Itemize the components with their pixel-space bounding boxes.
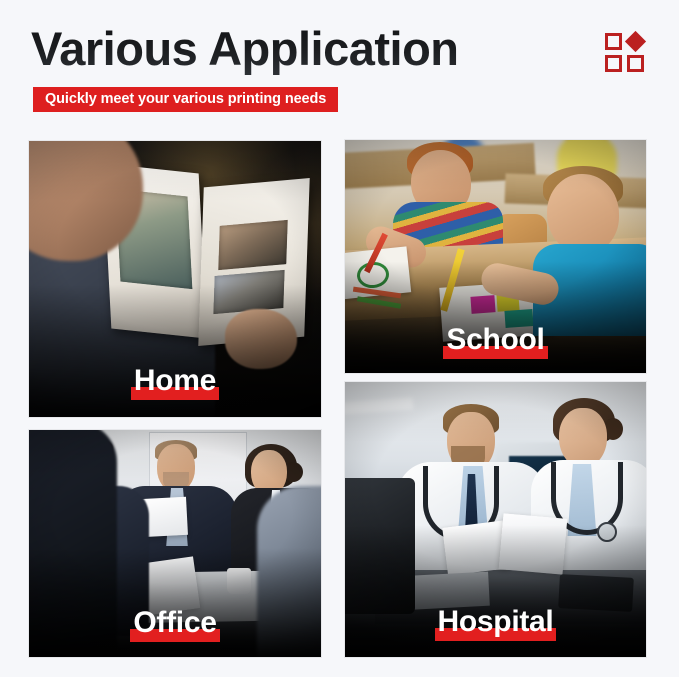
grid-squares-diamond-logo-icon [605,33,647,75]
photo-shape-female-doctor-head [559,408,607,468]
panel-label-text: Home [131,366,219,400]
logo-square-bottom-right [627,55,644,72]
photo-shape-coffee-cup [227,568,251,594]
photo-shape-boy-right-head [547,174,619,254]
photo-shape-right-hand [225,309,297,369]
subtitle-banner: Quickly meet your various printing needs [33,87,338,112]
panel-label-text: School [443,325,547,359]
application-card-school[interactable]: School [345,140,646,373]
subtitle-text: Quickly meet your various printing needs [45,92,326,107]
application-card-office[interactable]: Office [29,430,321,657]
panel-label-text: Hospital [435,607,557,641]
photo-shape-magenta-scribble [470,295,495,314]
application-card-hospital[interactable]: Hospital [345,382,646,657]
page-title: Various Application [31,20,459,79]
photo-shape-ceiling-light [345,397,413,414]
logo-square-bottom-left [605,55,622,72]
panel-label-hospital: Hospital [345,607,646,641]
photo-shape-document-right [499,513,568,574]
photo-shape-album-print-3 [213,270,284,314]
panel-label-school: School [345,325,646,359]
header: Various Application Quickly meet your va… [0,0,679,130]
photo-shape-stethoscope-bell [597,522,617,542]
panel-label-office: Office [29,608,321,642]
application-banner: Various Application Quickly meet your va… [0,0,679,677]
logo-square-top-left [605,33,622,50]
photo-shape-album-print-2 [218,220,287,270]
panel-label-text: Office [130,608,219,642]
application-card-home[interactable]: Home [29,141,321,417]
photo-shape-computer-monitor [345,478,415,614]
panel-label-home: Home [29,366,321,400]
logo-diamond-top-right [625,31,646,52]
